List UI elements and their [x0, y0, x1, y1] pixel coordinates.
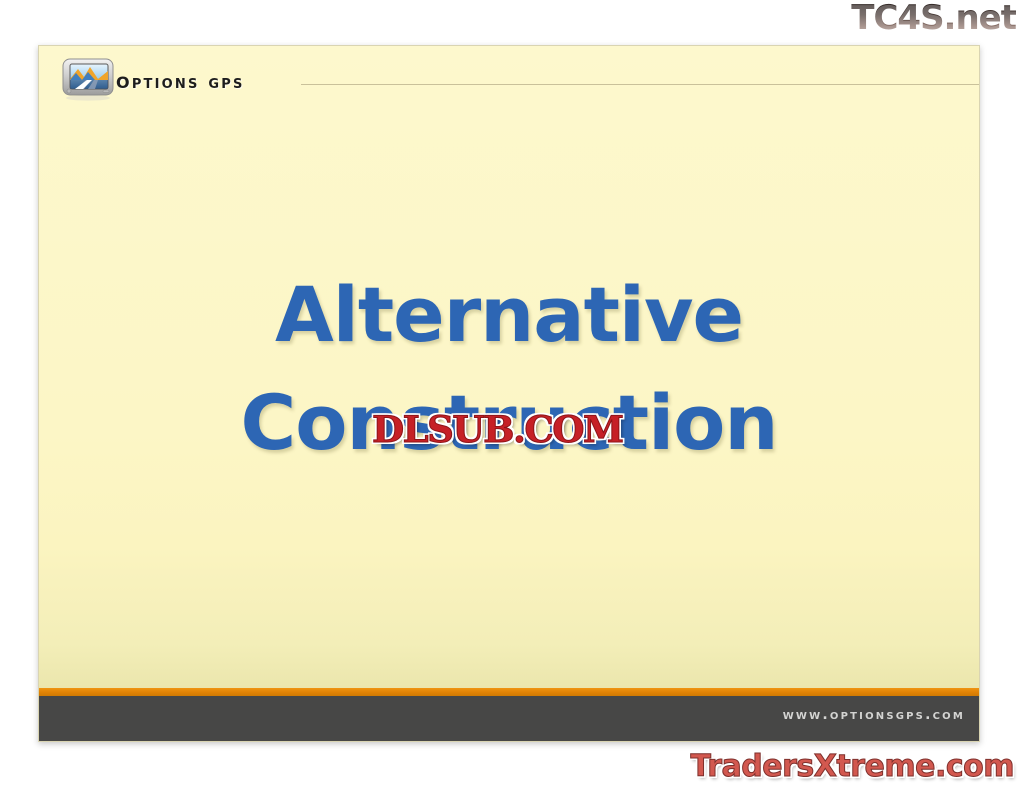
watermark-top-right: TC4S.net — [851, 0, 1016, 38]
gps-navigator-icon — [62, 57, 118, 101]
header-divider — [301, 84, 979, 85]
footer-url: www.OptionsGPS.com — [783, 707, 965, 723]
page-title-line-1: Alternative — [109, 261, 909, 369]
footer-accent-bar — [39, 688, 979, 696]
screenshot-root: TC4S.net — [0, 0, 1024, 791]
watermark-bottom-right: TradersXtreme.com — [691, 749, 1014, 785]
footer-bar: www.OptionsGPS.com — [39, 696, 979, 741]
slide-header: Options GPS — [39, 46, 979, 108]
presentation-slide: Options GPS Alternative Construction DLS… — [38, 45, 980, 742]
watermark-centre: DLSUB.COM — [372, 408, 623, 452]
brand-wordmark: Options GPS — [116, 68, 245, 94]
